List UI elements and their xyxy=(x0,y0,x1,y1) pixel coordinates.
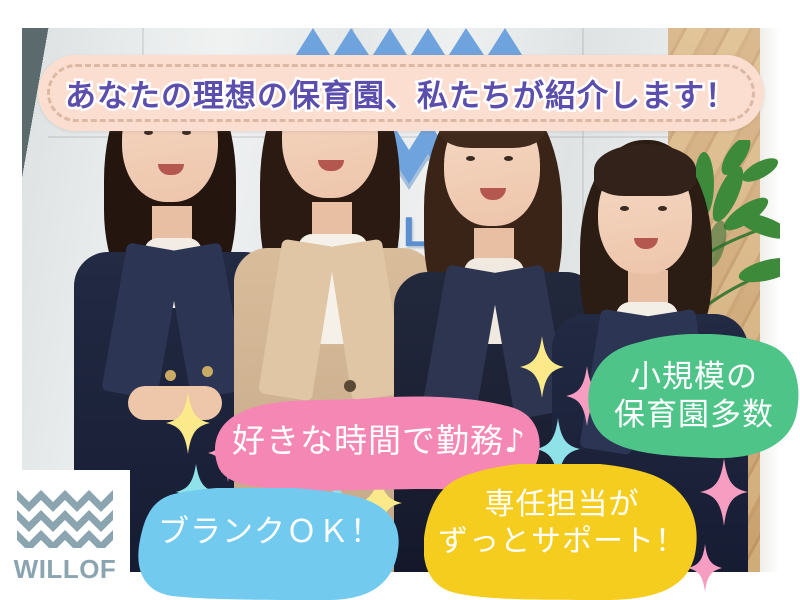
callout-bubble-green[interactable]: 小規模の 保育園多数 xyxy=(588,334,800,460)
sparkle-pink-right xyxy=(700,458,748,526)
header-banner: あなたの理想の保育園、私たちが紹介します！ xyxy=(38,55,764,131)
advertisement-banner: WILLOF xyxy=(0,0,800,600)
sparkle-yellow-left xyxy=(166,392,210,454)
willof-wordmark: WILLOF xyxy=(14,554,117,585)
headline-text: あなたの理想の保育園、私たちが紹介します！ xyxy=(38,71,764,116)
willof-zigzag-icon xyxy=(17,486,113,548)
callout-bubble-yellow[interactable]: 専任担当が ずっとサポート！ xyxy=(424,464,700,600)
callout-yellow-label: 専任担当が ずっとサポート！ xyxy=(424,464,700,600)
callout-bubble-blue[interactable]: ブランクＯＫ！ xyxy=(138,488,402,600)
brand-logo-card[interactable]: WILLOF xyxy=(0,470,130,600)
sparkle-yellow-center xyxy=(520,336,564,398)
callout-blue-label: ブランクＯＫ！ xyxy=(138,488,402,600)
callout-green-label: 小規模の 保育園多数 xyxy=(588,334,800,460)
